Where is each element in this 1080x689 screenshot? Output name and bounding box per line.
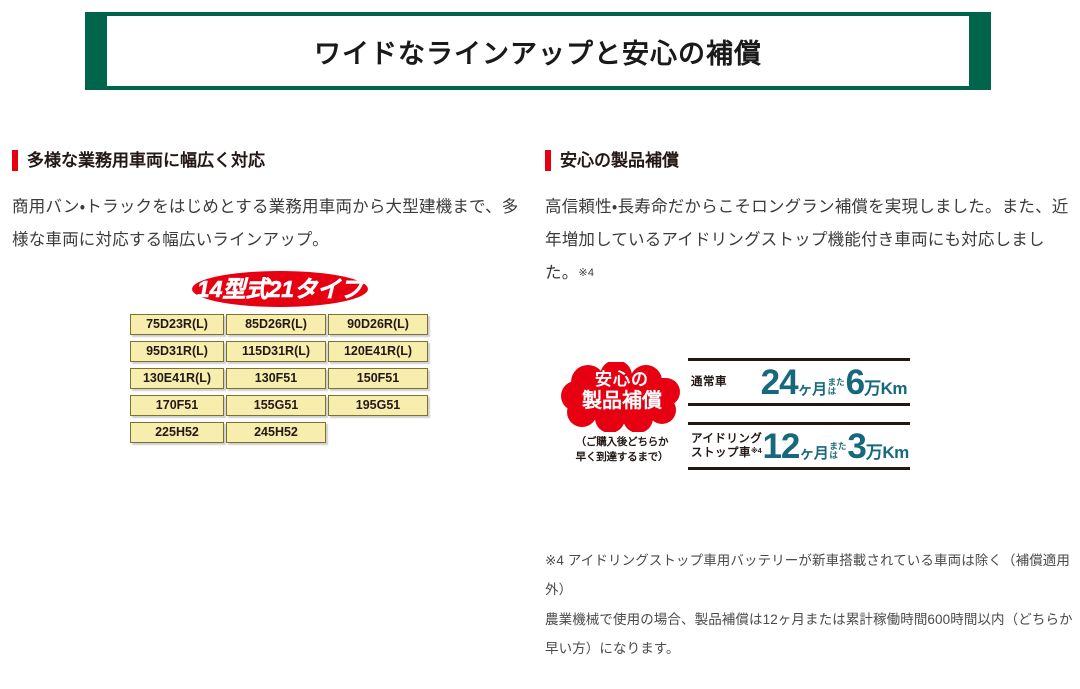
warranty-row-label-line2-wrap: ストップ車※4 [691, 446, 762, 460]
right-body-main: 高信頼性・長寿命だからこそロングラン補償を実現しました。また、近年増加しているア… [545, 198, 1069, 282]
battery-type-cell: 225H52 [130, 422, 224, 443]
warranty-table: 通常車 24 ヶ月 また は 6 万Km アイドリング ストップ車※4 1 [688, 358, 910, 486]
right-body-superscript: ※4 [578, 267, 594, 279]
battery-type-chip: 90D26R(L) [328, 314, 428, 335]
right-section-header: 安心の製品補償 [545, 150, 1070, 171]
page-title: ワイドなラインアップと安心の補償 [314, 32, 762, 71]
warranty-distance-unit: 万Km [864, 380, 907, 397]
left-section-header: 多様な業務用車両に幅広く対応 [12, 150, 532, 171]
warranty-row-label-line1: アイドリング [691, 432, 762, 446]
warranty-badge-note-line2: 早く到達するまで） [558, 450, 686, 465]
warranty-badge: 安心の 製品補償 （ご購入後どちらか 早く到達するまで） [558, 362, 686, 465]
warranty-or-bottom: は [829, 451, 846, 460]
footnote-item: ※4 アイドリングストップ車用バッテリーが新車搭載されている車両は除く（補償適用… [545, 546, 1073, 605]
battery-type-cell: 85D26R(L) [226, 314, 326, 335]
battery-type-cell: 195G51 [328, 395, 428, 416]
battery-type-chip: 115D31R(L) [226, 341, 326, 362]
battery-type-chip: 245H52 [226, 422, 326, 443]
warranty-months-value: 12 [762, 429, 799, 464]
warranty-distance-value: 3 [847, 429, 865, 464]
battery-type-chip: 130F51 [226, 368, 326, 389]
battery-type-chip: 130E41R(L) [130, 368, 224, 389]
lineup-count-ribbon: 14型式21タイプ [190, 268, 370, 310]
battery-type-chip: 95D31R(L) [130, 341, 224, 362]
battery-type-cell: 120E41R(L) [328, 341, 428, 362]
battery-type-cell-empty [328, 422, 428, 443]
warranty-badge-note: （ご購入後どちらか 早く到達するまで） [558, 435, 686, 465]
battery-type-cell: 130F51 [226, 368, 326, 389]
warranty-months-unit: ヶ月 [798, 382, 827, 397]
left-body-text: 商用バン・トラックをはじめとする業務用車両から大型建機まで、多様な車両に対応する… [12, 191, 532, 257]
right-column: 安心の製品補償 高信頼性・長寿命だからこそロングラン補償を実現しました。また、近… [545, 150, 1070, 290]
red-marker-bar-icon [12, 150, 18, 171]
warranty-or-connector: また は [828, 378, 845, 395]
battery-type-cell: 130E41R(L) [130, 368, 224, 389]
warranty-row-label: 通常車 [691, 375, 727, 389]
warranty-or-bottom: は [828, 387, 845, 396]
warranty-months-value: 24 [761, 365, 798, 400]
right-body-text: 高信頼性・長寿命だからこそロングラン補償を実現しました。また、近年増加しているア… [545, 191, 1070, 290]
warranty-row-content: アイドリング ストップ車※4 12 ヶ月 また は 3 万Km [688, 425, 910, 467]
battery-type-cell: 75D23R(L) [130, 314, 224, 335]
warranty-row-idling-stop: アイドリング ストップ車※4 12 ヶ月 また は 3 万Km [688, 422, 910, 470]
warranty-row-normal: 通常車 24 ヶ月 また は 6 万Km [688, 358, 910, 406]
burst-cloud-icon [561, 362, 680, 432]
battery-type-chip: 155G51 [226, 395, 326, 416]
battery-type-chip: 170F51 [130, 395, 224, 416]
warranty-or-connector: また は [829, 442, 846, 459]
battery-type-chip: 75D23R(L) [130, 314, 224, 335]
warranty-badge-note-line1: （ご購入後どちらか [558, 435, 686, 450]
warranty-row-content: 通常車 24 ヶ月 また は 6 万Km [688, 361, 910, 403]
battery-type-cell: 150F51 [328, 368, 428, 389]
left-section-title: 多様な業務用車両に幅広く対応 [27, 152, 265, 169]
right-section-title: 安心の製品補償 [560, 152, 679, 169]
battery-type-chip: 195G51 [328, 395, 428, 416]
battery-type-cell: 245H52 [226, 422, 326, 443]
header-banner: ワイドなラインアップと安心の補償 [85, 12, 991, 90]
warranty-row-label-superscript: ※4 [751, 448, 762, 455]
warranty-row-rule-bottom [688, 467, 910, 470]
warranty-months-unit: ヶ月 [799, 446, 828, 461]
warranty-distance-value: 6 [846, 365, 864, 400]
warranty-distance-unit: 万Km [866, 444, 909, 461]
battery-type-cell: 90D26R(L) [328, 314, 428, 335]
ribbon-label: 14型式21タイプ [197, 276, 368, 302]
footnotes: ※4 アイドリングストップ車用バッテリーが新車搭載されている車両は除く（補償適用… [545, 546, 1073, 664]
warranty-row-label: アイドリング ストップ車※4 [691, 432, 762, 461]
battery-type-chip: 225H52 [130, 422, 224, 443]
battery-type-cell: 115D31R(L) [226, 341, 326, 362]
warranty-badge-burst-shape: 安心の 製品補償 [558, 362, 686, 432]
warranty-row-rule-bottom [688, 403, 910, 406]
footnote-item: 農業機械で使用の場合、製品補償は12ヶ月または累計稼働時間600時間以内（どちら… [545, 605, 1073, 664]
left-column: 多様な業務用車両に幅広く対応 商用バン・トラックをはじめとする業務用車両から大型… [12, 150, 532, 257]
red-marker-bar-icon [545, 150, 551, 171]
battery-type-cell: 95D31R(L) [130, 341, 224, 362]
battery-type-chip: 120E41R(L) [328, 341, 428, 362]
battery-type-cell: 155G51 [226, 395, 326, 416]
warranty-row-label-line2: ストップ車 [691, 447, 751, 459]
battery-type-cell: 170F51 [130, 395, 224, 416]
warranty-row-value: 12 ヶ月 また は 3 万Km [762, 429, 908, 464]
warranty-row-value: 24 ヶ月 また は 6 万Km [761, 365, 907, 400]
battery-type-chip: 85D26R(L) [226, 314, 326, 335]
battery-type-chip: 150F51 [328, 368, 428, 389]
battery-type-grid: 75D23R(L) 85D26R(L) 90D26R(L) 95D31R(L) … [130, 314, 430, 443]
warranty-row-label-text: 通常車 [691, 376, 727, 388]
